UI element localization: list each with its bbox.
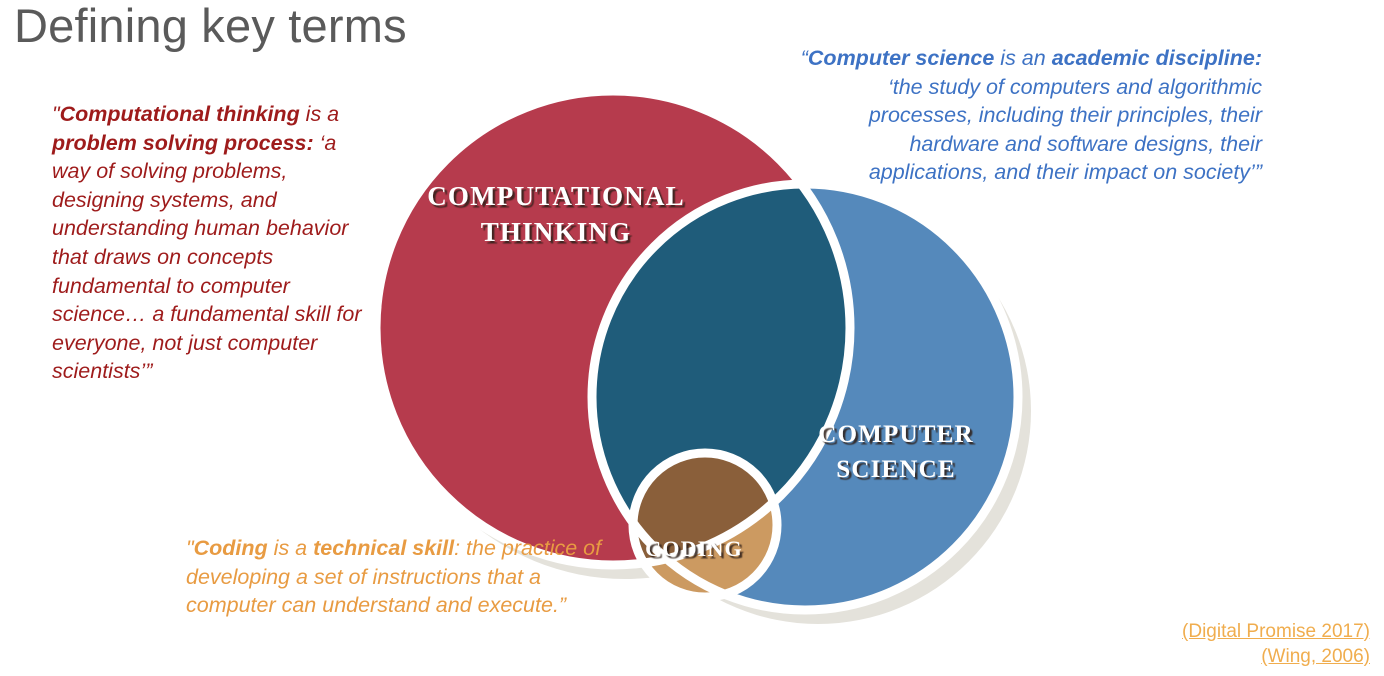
quote-computational-thinking: "Computational thinking is a problem sol… <box>52 100 362 386</box>
quote-cs-open: “ <box>801 46 808 70</box>
venn-label-ct-line1: COMPUTATIONAL <box>427 181 685 211</box>
citations: (Digital Promise 2017) (Wing, 2006) <box>1182 619 1370 670</box>
quote-cs-body: ‘the study of computers and algorithmic … <box>869 75 1262 185</box>
citation-link-digital-promise[interactable]: (Digital Promise 2017) <box>1182 619 1370 645</box>
venn-label-coding: CODING <box>645 536 743 561</box>
quote-cs-term: Computer science <box>808 46 994 70</box>
venn-label-cs-line1: COMPUTER <box>818 421 973 448</box>
quote-coding-term: Coding <box>194 536 268 560</box>
quote-coding-kind: technical skill <box>313 536 454 560</box>
quote-ct-term: Computational thinking <box>60 102 300 126</box>
quote-coding-open: " <box>186 536 194 560</box>
quote-coding-connector: is a <box>268 536 313 560</box>
quote-computer-science: “Computer science is an academic discipl… <box>800 44 1262 187</box>
venn-label-coding-text: CODING <box>645 536 743 561</box>
venn-label-ct-line2: THINKING <box>481 217 632 247</box>
quote-cs-kind: academic discipline: <box>1052 46 1262 70</box>
slide-canvas: Defining key terms <box>0 0 1384 676</box>
quote-coding: "Coding is a technical skill: the practi… <box>186 534 606 620</box>
quote-cs-connector: is an <box>994 46 1051 70</box>
quote-ct-body: ‘a way of solving problems, designing sy… <box>52 131 362 384</box>
quote-ct-open: " <box>52 102 60 126</box>
venn-label-cs-line2: SCIENCE <box>836 456 956 483</box>
quote-ct-kind: problem solving process: <box>52 131 314 155</box>
quote-ct-connector: is a <box>300 102 339 126</box>
citation-link-wing[interactable]: (Wing, 2006) <box>1182 644 1370 670</box>
